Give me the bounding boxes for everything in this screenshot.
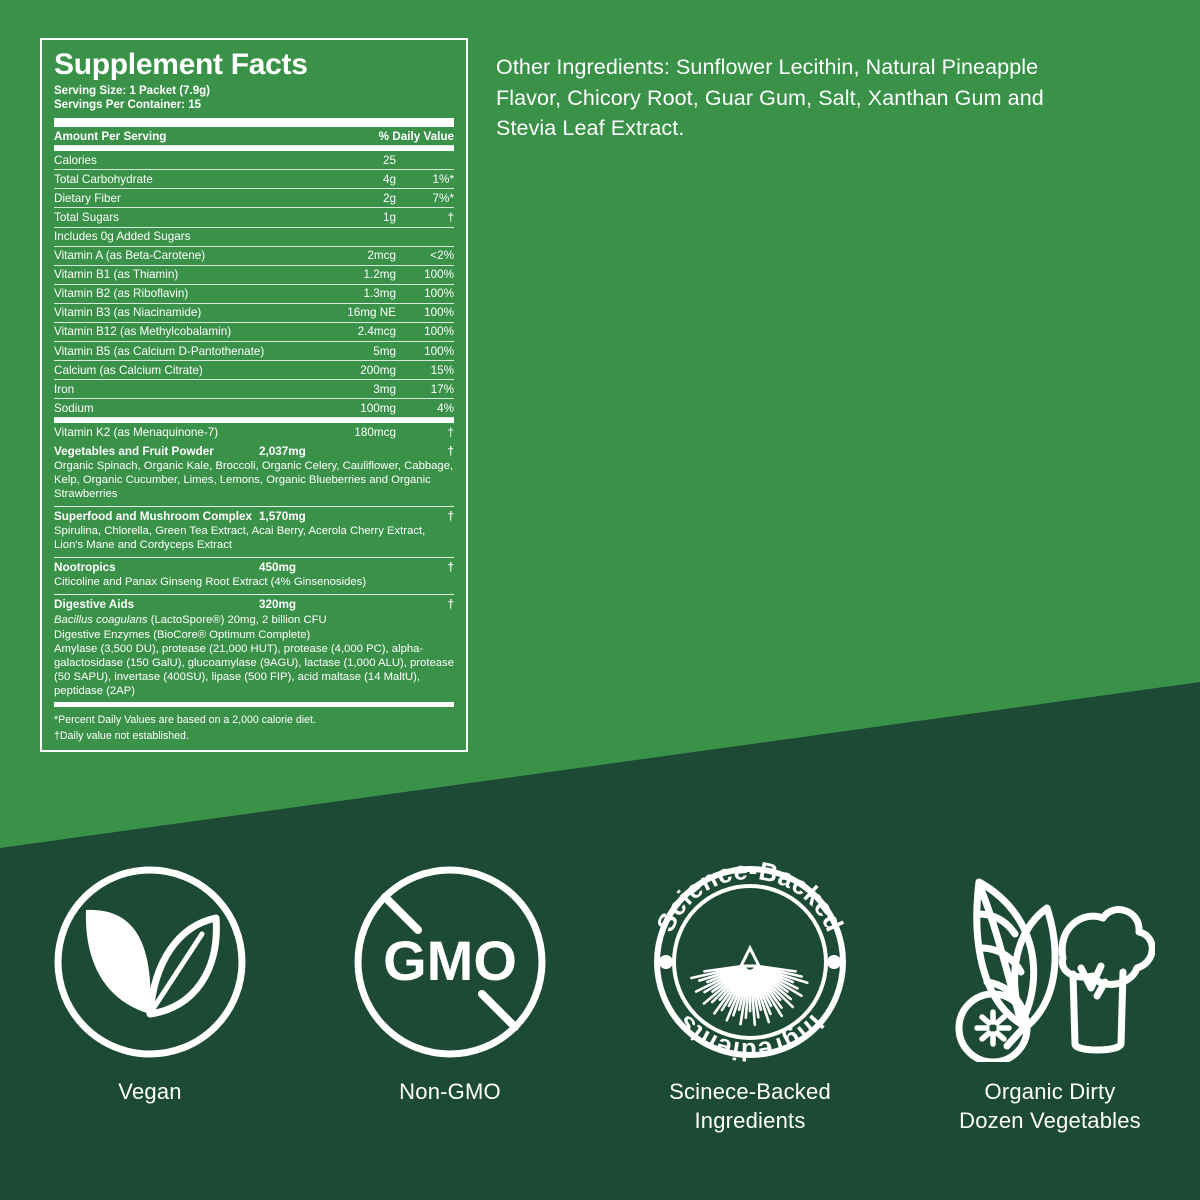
nutrient-name: Calories: [54, 151, 301, 170]
nutrient-daily-value: 100%: [396, 303, 454, 322]
nutrient-name: Vitamin B2 (as Riboflavin): [54, 284, 301, 303]
nutrient-daily-value: 4%: [396, 399, 454, 418]
nutrient-name: Total Sugars: [54, 208, 301, 227]
svg-text:GMO: GMO: [383, 929, 517, 992]
nutrient-daily-value: 100%: [396, 342, 454, 361]
nutrient-amount: 180mcg: [301, 423, 396, 441]
badge-label: Vegan: [118, 1078, 181, 1107]
nutrient-daily-value: 100%: [396, 322, 454, 341]
nutrient-daily-value: 100%: [396, 265, 454, 284]
blend-amount: 450mg: [259, 561, 438, 576]
footnote-percent-daily-value: *Percent Daily Values are based on a 2,0…: [54, 713, 454, 728]
nutrient-daily-value: [396, 151, 454, 170]
divider-thick-top: [54, 118, 454, 127]
nutrient-daily-value: 100%: [396, 284, 454, 303]
svg-text:Ingredients: Ingredients: [671, 1009, 829, 1062]
vitamin-k2-table: Vitamin K2 (as Menaquinone-7) 180mcg †: [54, 423, 454, 441]
nutrient-daily-value: †: [396, 423, 454, 441]
nutrient-name: Calcium (as Calcium Citrate): [54, 361, 301, 380]
nutrient-row: Dietary Fiber2g7%*: [54, 189, 454, 208]
nutrient-daily-value: 15%: [396, 361, 454, 380]
serving-size: Serving Size: 1 Packet (7.9g): [54, 84, 454, 98]
nutrient-daily-value: †: [396, 208, 454, 227]
servings-per-container: Servings Per Container: 15: [54, 98, 454, 112]
blend-name: Digestive Aids: [54, 598, 259, 613]
nutrient-daily-value: <2%: [396, 246, 454, 265]
footnote-daily-value-not-established: †Daily value not established.: [54, 729, 454, 744]
blend-block: Vegetables and Fruit Powder2,037mg†Organ…: [54, 442, 454, 506]
nutrient-name: Sodium: [54, 399, 301, 418]
digestive-line-2: Digestive Enzymes (BioCore® Optimum Comp…: [54, 628, 454, 643]
nutrient-row: Calcium (as Calcium Citrate)200mg15%: [54, 361, 454, 380]
nutrient-amount: 200mg: [301, 361, 396, 380]
digestive-aids-block: Digestive Aids 320mg † Bacillus coagulan…: [54, 594, 454, 702]
nutrient-name: Dietary Fiber: [54, 189, 301, 208]
nutrient-name: Vitamin K2 (as Menaquinone-7): [54, 423, 301, 441]
blend-ingredients: Citicoline and Panax Ginseng Root Extrac…: [54, 575, 454, 590]
supplement-facts-title: Supplement Facts: [54, 50, 454, 80]
badge-vegan: Vegan: [0, 862, 300, 1135]
blend-block: Superfood and Mushroom Complex1,570mg†Sp…: [54, 506, 454, 557]
nutrient-name: Vitamin A (as Beta-Carotene): [54, 246, 301, 265]
nutrient-daily-value: 17%: [396, 380, 454, 399]
amount-per-serving-header: Amount Per Serving: [54, 127, 318, 146]
badge-organic-vegetables: Organic DirtyDozen Vegetables: [900, 862, 1200, 1135]
nutrient-amount: 100mg: [301, 399, 396, 418]
science-backed-seal-icon: Science-Backed Ingredients: [650, 862, 850, 1062]
badge-label: Organic DirtyDozen Vegetables: [959, 1078, 1141, 1135]
bacillus-coagulans-italic: Bacillus coagulans: [54, 614, 148, 626]
nutrient-amount: [301, 227, 396, 246]
digestive-enzymes-list: Amylase (3,500 DU), protease (21,000 HUT…: [54, 642, 454, 698]
nutrient-amount: 1.3mg: [301, 284, 396, 303]
badge-non-gmo: GMO Non-GMO: [300, 862, 600, 1135]
nutrient-row: Sodium100mg4%: [54, 399, 454, 418]
other-ingredients-text: Other Ingredients: Sunflower Lecithin, N…: [496, 52, 1096, 144]
nutrient-row: Vitamin B5 (as Calcium D-Pantothenate)5m…: [54, 342, 454, 361]
supplement-facts-panel: Supplement Facts Serving Size: 1 Packet …: [40, 38, 468, 752]
nutrient-amount: 25: [301, 151, 396, 170]
nutrient-name: Iron: [54, 380, 301, 399]
nutrient-amount: 2.4mcg: [301, 322, 396, 341]
nutrient-amount: 2mcg: [301, 246, 396, 265]
nutrient-amount: 16mg NE: [301, 303, 396, 322]
blend-name: Nootropics: [54, 561, 259, 576]
no-gmo-icon: GMO: [350, 862, 550, 1062]
nutrient-name: Vitamin B12 (as Methylcobalamin): [54, 322, 301, 341]
nutrient-amount: 1g: [301, 208, 396, 227]
nutrient-daily-value: 1%*: [396, 170, 454, 189]
nutrient-name: Vitamin B3 (as Niacinamide): [54, 303, 301, 322]
blend-daily-value: †: [438, 598, 454, 613]
nutrient-name: Vitamin B5 (as Calcium D-Pantothenate): [54, 342, 301, 361]
footnotes: *Percent Daily Values are based on a 2,0…: [54, 707, 454, 744]
nutrient-row: Includes 0g Added Sugars: [54, 227, 454, 246]
nutrient-amount: 5mg: [301, 342, 396, 361]
blend-name: Vegetables and Fruit Powder: [54, 445, 259, 460]
nutrient-row: Calories25: [54, 151, 454, 170]
digestive-line-1: Bacillus coagulans (LactoSpore®) 20mg, 2…: [54, 613, 454, 628]
bacillus-coagulans-rest: (LactoSpore®) 20mg, 2 billion CFU: [148, 614, 327, 626]
leaf-circle-icon: [50, 862, 250, 1062]
nutrient-row: Vitamin A (as Beta-Carotene)2mcg<2%: [54, 246, 454, 265]
blend-amount: 2,037mg: [259, 445, 438, 460]
nutrient-daily-value: [396, 227, 454, 246]
nutrient-amount: 2g: [301, 189, 396, 208]
blend-daily-value: †: [438, 445, 454, 460]
nutrient-name: Vitamin B1 (as Thiamin): [54, 265, 301, 284]
nutrient-name: Total Carbohydrate: [54, 170, 301, 189]
nutrient-row: Vitamin B1 (as Thiamin)1.2mg100%: [54, 265, 454, 284]
vegetables-icon: [945, 862, 1155, 1062]
nutrient-amount: 4g: [301, 170, 396, 189]
badge-row: Vegan GMO Non-GMO: [0, 862, 1200, 1135]
nutrient-row: Vitamin B12 (as Methylcobalamin)2.4mcg10…: [54, 322, 454, 341]
badge-label: Non-GMO: [399, 1078, 501, 1107]
nutrient-row: Vitamin B3 (as Niacinamide)16mg NE100%: [54, 303, 454, 322]
blend-block: Nootropics450mg†Citicoline and Panax Gin…: [54, 557, 454, 594]
nutrient-amount: 1.2mg: [301, 265, 396, 284]
nutrient-daily-value: 7%*: [396, 189, 454, 208]
blend-ingredients: Organic Spinach, Organic Kale, Broccoli,…: [54, 459, 454, 501]
nutrient-name: Includes 0g Added Sugars: [54, 227, 301, 246]
nutrient-row: Vitamin B2 (as Riboflavin)1.3mg100%: [54, 284, 454, 303]
blend-amount: 1,570mg: [259, 510, 438, 525]
nutrient-table: Calories25Total Carbohydrate4g1%*Dietary…: [54, 151, 454, 418]
blend-amount: 320mg: [259, 598, 438, 613]
blend-daily-value: †: [438, 510, 454, 525]
badge-label: Scinece-BackedIngredients: [669, 1078, 831, 1135]
badge-science-backed: Science-Backed Ingredients Scinece-Backe…: [600, 862, 900, 1135]
nutrient-row: Total Sugars1g†: [54, 208, 454, 227]
blend-daily-value: †: [438, 561, 454, 576]
nutrient-row: Iron3mg17%: [54, 380, 454, 399]
facts-column-headers: Amount Per Serving % Daily Value: [54, 127, 454, 146]
nutrient-amount: 3mg: [301, 380, 396, 399]
daily-value-header: % Daily Value: [318, 127, 454, 146]
nutrient-row: Total Carbohydrate4g1%*: [54, 170, 454, 189]
blend-ingredients: Spirulina, Chlorella, Green Tea Extract,…: [54, 524, 454, 553]
blend-list: Vegetables and Fruit Powder2,037mg†Organ…: [54, 442, 454, 595]
blend-name: Superfood and Mushroom Complex: [54, 510, 259, 525]
